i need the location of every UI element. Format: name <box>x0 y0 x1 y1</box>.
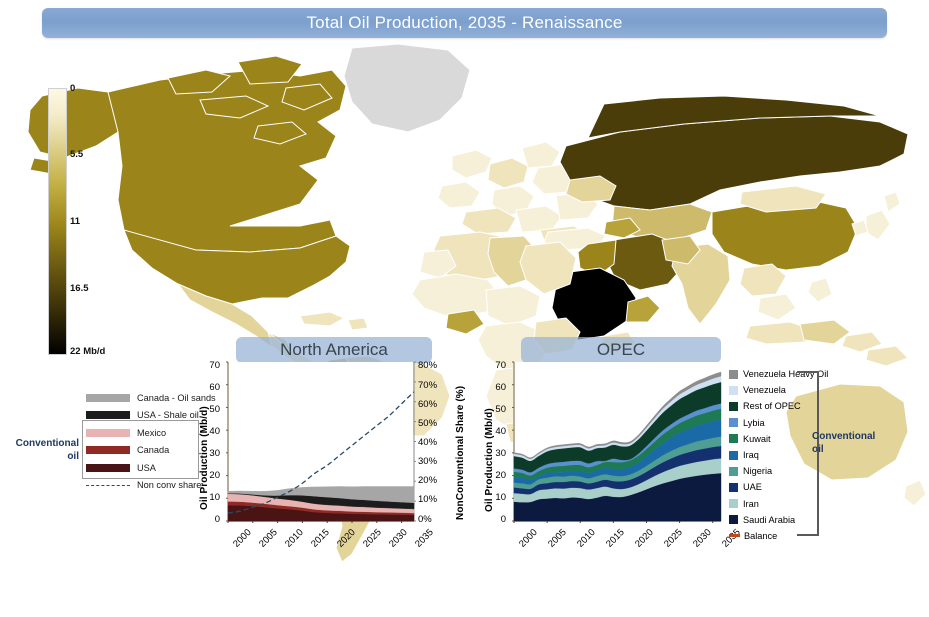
opec-ytick-20: 20 <box>482 470 506 481</box>
colorbar-tick-4: 22 Mb/d <box>70 346 105 357</box>
na-y2tick-50: 50% <box>418 418 446 429</box>
legend-color-swatch <box>729 467 738 476</box>
opec-plot-svg <box>512 361 723 523</box>
legend-item-label: Iraq <box>743 450 759 460</box>
na-y2tick-80: 80% <box>418 360 446 371</box>
opec-ytick-40: 40 <box>482 426 506 437</box>
colorbar-tick-3: 16.5 <box>70 283 89 294</box>
colorbar-tick-2: 11 <box>70 216 80 227</box>
legend-color-swatch <box>729 499 738 508</box>
na-y2-axis-label: NonConventional Share (%) <box>455 372 466 520</box>
na-conventional-oil-label: Conventional oil <box>3 437 79 463</box>
legend-color-swatch <box>729 386 738 395</box>
legend-item-label: Nigeria <box>743 466 772 476</box>
legend-item-label: Balance <box>744 531 777 541</box>
opec-ytick-60: 60 <box>482 382 506 393</box>
na-plot-svg <box>226 361 416 523</box>
opec-ytick-70: 70 <box>482 360 506 371</box>
legend-item-label: Venezuela <box>743 385 786 395</box>
opec-conv-line2: oil <box>812 444 824 455</box>
na-y2tick-10: 10% <box>418 494 446 505</box>
legend-item-canada-oil-sands[interactable]: Canada - Oil sands <box>86 389 216 407</box>
legend-color-swatch <box>729 370 738 379</box>
na-y2tick-0: 0% <box>418 514 446 525</box>
chart-title-opec: OPEC <box>521 337 721 363</box>
na-y2tick-60: 60% <box>418 399 446 410</box>
na-y2tick-20: 20% <box>418 475 446 486</box>
na-y2tick-40: 40% <box>418 437 446 448</box>
legend-item-label: Rest of OPEC <box>743 401 801 411</box>
legend-item-label: Iran <box>743 499 759 509</box>
opec-ytick-50: 50 <box>482 404 506 415</box>
colorbar-tick-0: 0 <box>70 83 75 94</box>
legend-color-swatch <box>729 434 738 443</box>
legend-line-swatch <box>729 534 740 537</box>
legend-item-label: UAE <box>743 482 762 492</box>
page-title: Total Oil Production, 2035 - Renaissance <box>306 13 622 33</box>
legend-item-non-conv-share[interactable]: Non conv share <box>86 477 216 495</box>
legend-item-label: Non conv share <box>137 480 201 490</box>
na-y2tick-30: 30% <box>418 456 446 467</box>
legend-item-label: Canada - Oil sands <box>137 393 216 403</box>
opec-ytick-30: 30 <box>482 448 506 459</box>
na-conv-line1: Conventional <box>16 438 79 449</box>
legend-color-swatch <box>729 483 738 492</box>
opec-ytick-10: 10 <box>482 492 506 503</box>
legend-item-label: Kuwait <box>743 434 771 444</box>
legend-item-label: Saudi Arabia <box>743 515 795 525</box>
na-ytick-0: 0 <box>196 514 220 525</box>
legend-item-label: USA - Shale oil <box>137 410 199 420</box>
legend-color-swatch <box>729 402 738 411</box>
legend-dash-swatch <box>86 485 130 486</box>
legend-color-swatch <box>729 451 738 460</box>
na-y2tick-70: 70% <box>418 380 446 391</box>
opec-conventional-oil-label: Conventional oil <box>812 430 902 456</box>
opec-ytick-0: 0 <box>482 514 506 525</box>
legend-color-swatch <box>86 411 130 419</box>
legend-color-swatch <box>86 394 130 402</box>
legend-color-swatch <box>729 418 738 427</box>
colorbar-tick-1: 5.5 <box>70 149 83 160</box>
opec-conv-line1: Conventional <box>812 431 875 442</box>
na-conv-line2: oil <box>67 451 79 462</box>
map-colorbar <box>48 88 67 355</box>
legend-color-swatch <box>729 515 738 524</box>
legend-item-label: Lybia <box>743 418 765 428</box>
page-header-bar: Total Oil Production, 2035 - Renaissance <box>42 8 887 38</box>
chart-title-north-america: North America <box>236 337 432 363</box>
na-legend-bracket-box <box>82 420 199 479</box>
na-ytick-70: 70 <box>196 360 220 371</box>
